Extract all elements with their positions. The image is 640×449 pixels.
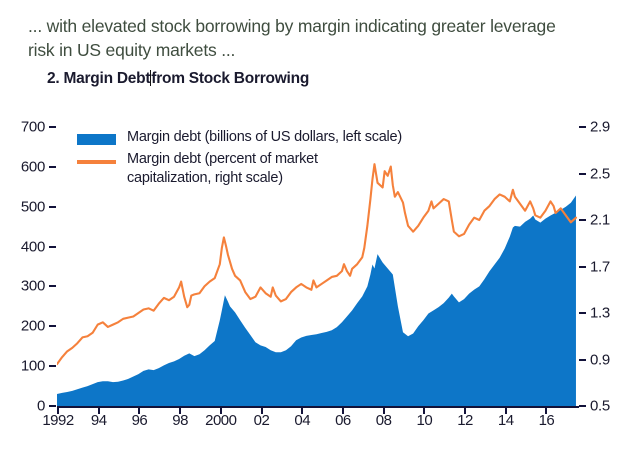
x-axis-label: 94 (91, 412, 107, 429)
filled-bar-icon (77, 134, 116, 145)
y-axis-left-label: 300 (21, 278, 45, 295)
margin-debt-billions-area (57, 196, 576, 406)
y-axis-left-label: 500 (21, 198, 45, 215)
y-axis-left-tick (49, 126, 56, 128)
x-axis-label: 10 (416, 412, 432, 429)
y-axis-right-tick (579, 173, 586, 175)
x-axis-line (57, 406, 579, 408)
y-axis-right-label: 2.5 (590, 165, 610, 182)
x-axis-label: 06 (335, 412, 351, 429)
y-axis-left-tick (49, 166, 56, 168)
y-axis-right-label: 2.1 (590, 212, 610, 229)
y-axis-right-tick (579, 359, 586, 361)
chart-legend: Margin debt (billions of US dollars, lef… (77, 128, 402, 191)
x-axis-label: 04 (294, 412, 310, 429)
x-axis-label: 02 (254, 412, 270, 429)
x-axis-label: 2000 (205, 412, 236, 429)
legend-swatch-wrap (77, 128, 121, 145)
y-axis-left-tick (49, 365, 56, 367)
y-axis-right-label: 1.7 (590, 258, 610, 275)
x-axis-label: 12 (457, 412, 473, 429)
legend-item: Margin debt (percent of market capitaliz… (77, 150, 402, 188)
y-axis-left-tick (49, 405, 56, 407)
y-axis-left-label: 200 (21, 318, 45, 335)
x-axis-label: 08 (376, 412, 392, 429)
chart-title: 2. Margin Debtfrom Stock Borrowing (47, 70, 309, 88)
legend-swatch-wrap (77, 150, 121, 164)
y-axis-right-tick (579, 266, 586, 268)
legend-item-label: Margin debt (billions of US dollars, lef… (121, 128, 402, 147)
chart-title-after-caret: from Stock Borrowing (151, 70, 309, 87)
chart-title-before-caret: 2. Margin Debt (47, 70, 150, 87)
x-axis-label: 98 (172, 412, 188, 429)
y-axis-right-tick (579, 312, 586, 314)
y-axis-right-label: 2.9 (590, 119, 610, 136)
y-axis-left-tick (49, 246, 56, 248)
x-axis-label: 16 (539, 412, 555, 429)
legend-item: Margin debt (billions of US dollars, lef… (77, 128, 402, 147)
y-axis-left-label: 600 (21, 158, 45, 175)
y-axis-right-tick (579, 405, 586, 407)
y-axis-right-label: 0.9 (590, 351, 610, 368)
y-axis-left-label: 100 (21, 358, 45, 375)
x-axis-label: 96 (132, 412, 148, 429)
y-axis-left-label: 700 (21, 119, 45, 136)
y-axis-right-tick (579, 219, 586, 221)
section-caption: ... with elevated stock borrowing by mar… (28, 14, 628, 62)
y-axis-left-label: 400 (21, 238, 45, 255)
legend-item-label: Margin debt (percent of market capitaliz… (121, 150, 318, 188)
y-axis-right-label: 0.5 (590, 398, 610, 415)
x-axis-label: 1992 (42, 412, 73, 429)
y-axis-left-tick (49, 325, 56, 327)
chart-figure: ... with elevated stock borrowing by mar… (0, 0, 640, 449)
y-axis-right-tick (579, 126, 586, 128)
line-icon (77, 160, 116, 164)
y-axis-left-tick (49, 285, 56, 287)
x-axis-label: 14 (498, 412, 514, 429)
y-axis-right-label: 1.3 (590, 305, 610, 322)
y-axis-left-tick (49, 206, 56, 208)
